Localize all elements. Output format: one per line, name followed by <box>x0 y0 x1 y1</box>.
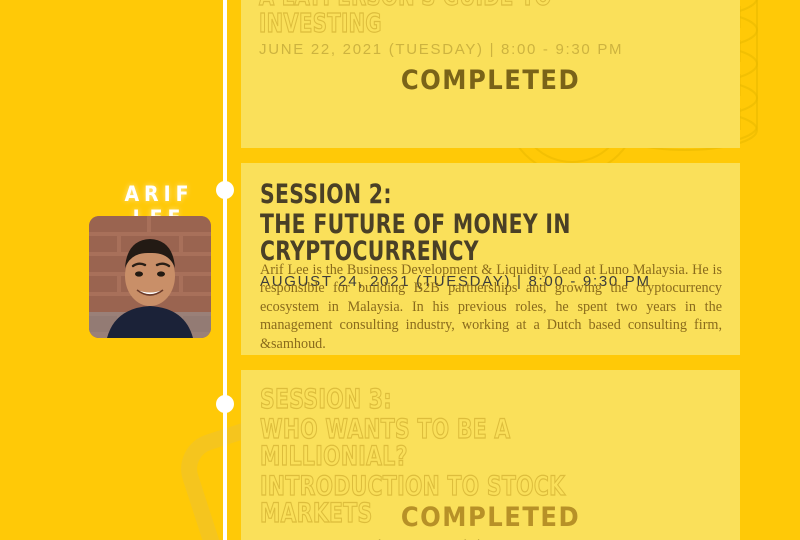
session-2-title: THE FUTURE OF MONEY IN CRYPTOCURRENCY <box>260 211 663 266</box>
speaker-avatar <box>89 216 211 338</box>
timeline-dot-session-3[interactable] <box>216 395 234 413</box>
session-3-label: SESSION 3: <box>260 386 663 414</box>
poster-stage: ARIF LEE <box>0 0 800 540</box>
session-2-label: SESSION 2: <box>260 181 663 209</box>
session-3-title-line-1: WHO WANTS TO BE A MILLIONIAL? <box>260 416 663 471</box>
session-3-status-badge: COMPLETED <box>241 502 740 533</box>
session-1-title: A LAYPERSON'S GUIDE TO INVESTING <box>259 0 678 37</box>
session-2-speaker-bio: Arif Lee is the Business Development & L… <box>260 261 722 353</box>
session-card-1[interactable]: A LAYPERSON'S GUIDE TO INVESTING JUNE 22… <box>241 0 740 148</box>
session-card-2[interactable]: SESSION 2: THE FUTURE OF MONEY IN CRYPTO… <box>241 163 740 355</box>
avatar-portrait-icon <box>89 216 211 338</box>
session-1-status-badge: COMPLETED <box>241 65 740 96</box>
session-1-date: JUNE 22, 2021 (TUESDAY) | 8:00 - 9:30 PM <box>259 41 758 58</box>
session-3-date: JULY 6, 2021 (TUESDAY) | 8:00 - 9:30 PM <box>260 537 740 540</box>
timeline-line <box>223 0 227 540</box>
session-card-3[interactable]: SESSION 3: WHO WANTS TO BE A MILLIONIAL?… <box>241 370 740 540</box>
